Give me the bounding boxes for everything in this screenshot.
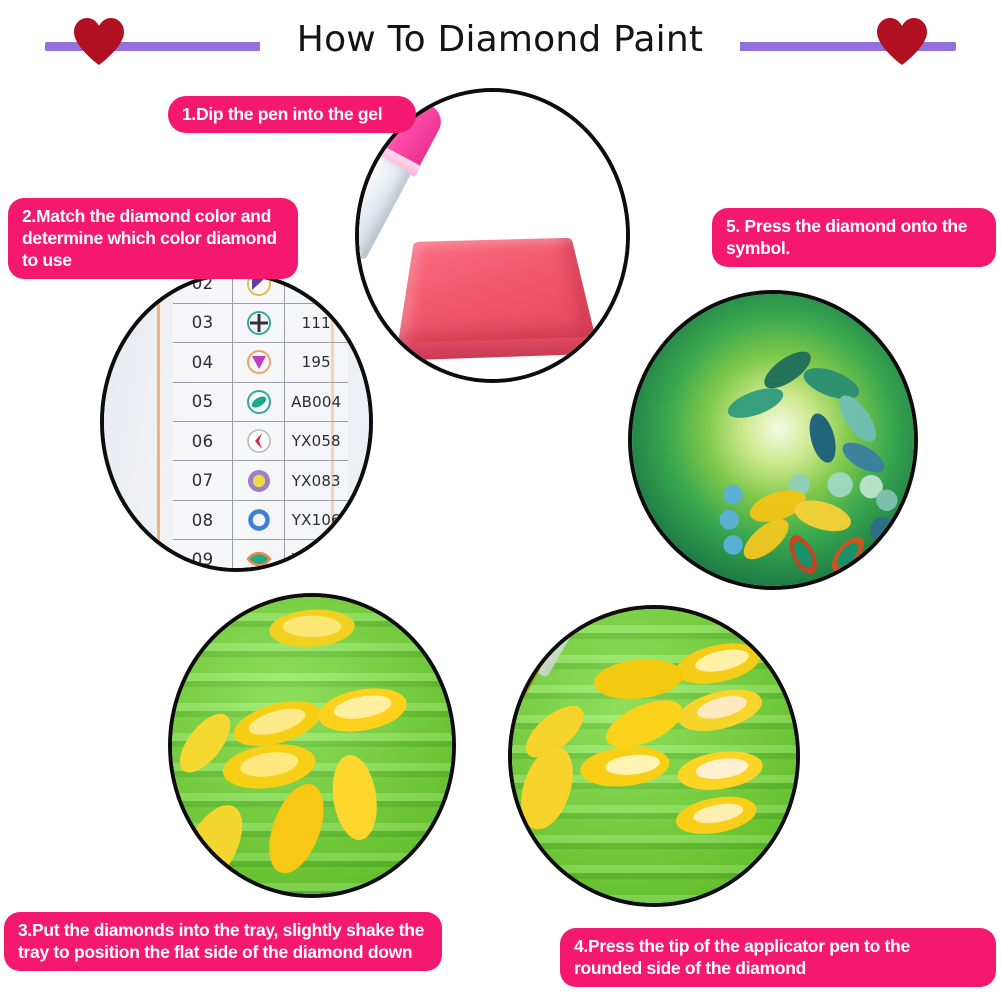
teal-oval-in-teal-circle-icon (232, 383, 284, 421)
step-3-label: 3.Put the diamonds into the tray, slight… (4, 912, 442, 971)
table-row: 06 YX058 (173, 422, 348, 461)
photo-diamonds-in-tray (172, 597, 452, 894)
chart-code: 04 (173, 353, 232, 372)
yellow-dot-in-purple-ring-icon (232, 461, 284, 499)
photo-color-chart: 02 093 03 111 04 (104, 276, 369, 568)
table-row: 07 YX083 (173, 461, 348, 500)
chart-code: 06 (173, 432, 232, 451)
photo-pen-picking-diamond (512, 609, 796, 903)
step-5-label: 5. Press the diamond onto the symbol. (712, 208, 996, 267)
chart-dmc: 195 (285, 353, 348, 371)
step-4-photo-frame (508, 605, 800, 907)
tray-diamonds (172, 597, 452, 894)
table-row: 09 YX125 (173, 540, 348, 572)
step-2-photo-frame: 02 093 03 111 04 (100, 272, 373, 572)
color-legend-table: 02 093 03 111 04 (173, 272, 348, 572)
chart-dmc: AB004 (285, 393, 348, 411)
chart-code: 09 (173, 550, 232, 569)
gel-square (397, 238, 596, 347)
step-3-photo-frame (168, 593, 456, 898)
chart-dmc: 093 (285, 275, 348, 293)
chart-dmc: 111 (285, 314, 348, 332)
chart-code: 05 (173, 392, 232, 411)
table-row: 04 195 (173, 343, 348, 382)
photo-mandala-canvas (632, 294, 914, 586)
teal-marquise-with-orange-border-icon (232, 540, 284, 572)
magenta-triangle-in-orange-circle-icon (232, 343, 284, 381)
infographic-page: How To Diamond Paint 1.Dip the pen into … (0, 0, 1001, 1001)
page-title: How To Diamond Paint (260, 19, 740, 60)
chart-dmc: YX083 (285, 472, 348, 490)
black-plus-in-teal-circle-icon (232, 304, 284, 342)
chart-code: 07 (173, 471, 232, 490)
heart-icon-right (875, 16, 929, 66)
step-1-label: 1.Dip the pen into the gel (168, 96, 416, 133)
chart-code: 03 (173, 313, 232, 332)
heart-icon-left (72, 16, 126, 66)
chart-dmc: YX106 (285, 511, 348, 529)
step-4-label: 4.Press the tip of the applicator pen to… (560, 928, 996, 987)
table-row: 08 YX106 (173, 501, 348, 540)
red-chevron-in-white-circle-icon (232, 422, 284, 460)
chart-dmc: YX125 (285, 550, 348, 568)
chart-dmc: YX058 (285, 432, 348, 450)
step-2-label: 2.Match the diamond color and determine … (8, 198, 298, 279)
mandala-gems (632, 294, 914, 586)
table-row: 03 111 (173, 304, 348, 343)
step-5-photo-frame (628, 290, 918, 590)
chart-code: 08 (173, 511, 232, 530)
table-row: 05 AB004 (173, 383, 348, 422)
photo-pen-dipping-gel (359, 92, 626, 379)
blue-open-ring-icon (232, 501, 284, 539)
